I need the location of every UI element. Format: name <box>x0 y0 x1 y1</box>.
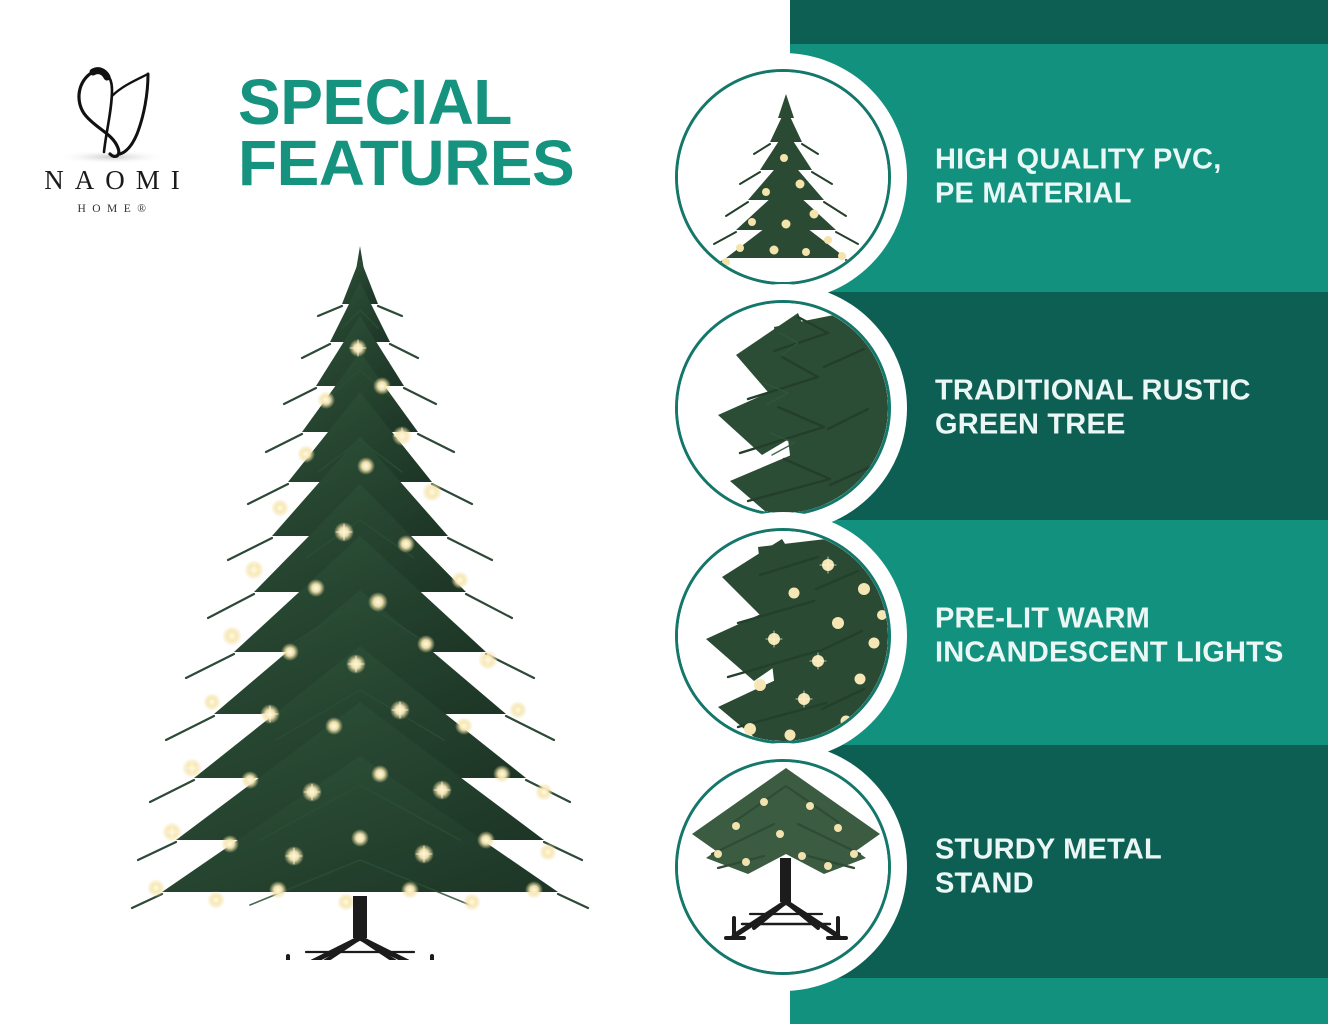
lit-branches-thumbnail-image <box>678 531 888 741</box>
feature-label-line2: PE MATERIAL <box>935 177 1315 211</box>
feature-row-material: HIGH QUALITY PVC, PE MATERIAL <box>0 62 1328 292</box>
metal-stand-thumbnail-image <box>678 762 888 972</box>
feature-label-line1: STURDY METAL <box>935 833 1315 867</box>
feature-label-line1: HIGH QUALITY PVC, <box>935 143 1315 177</box>
feature-label-line1: TRADITIONAL RUSTIC <box>935 374 1315 408</box>
thumbnail-ring <box>675 759 891 975</box>
panel-band-top <box>790 0 1328 44</box>
panel-band-bottom <box>790 978 1328 1024</box>
feature-row-green-tree: TRADITIONAL RUSTIC GREEN TREE <box>0 293 1328 523</box>
feature-label-pre-lit: PRE-LIT WARM INCANDESCENT LIGHTS <box>935 602 1315 669</box>
feature-label-green-tree: TRADITIONAL RUSTIC GREEN TREE <box>935 374 1315 441</box>
thumbnail-ring <box>675 69 891 285</box>
feature-row-stand: STURDY METAL STAND <box>0 752 1328 982</box>
thumbnail-ring <box>675 528 891 744</box>
feature-thumbnail-material[interactable] <box>668 62 898 292</box>
infographic-canvas: NAOMI HOME® SPECIAL FEATURES <box>0 0 1328 1024</box>
full-tree-thumbnail-image <box>678 72 888 282</box>
feature-label-line2: INCANDESCENT LIGHTS <box>935 636 1315 670</box>
feature-label-material: HIGH QUALITY PVC, PE MATERIAL <box>935 143 1315 210</box>
feature-row-pre-lit: PRE-LIT WARM INCANDESCENT LIGHTS <box>0 521 1328 751</box>
thumbnail-ring <box>675 300 891 516</box>
feature-label-line1: PRE-LIT WARM <box>935 602 1315 636</box>
feature-label-line2: STAND <box>935 867 1315 901</box>
feature-label-line2: GREEN TREE <box>935 408 1315 442</box>
feature-thumbnail-stand[interactable] <box>668 752 898 982</box>
branch-closeup-thumbnail-image <box>678 303 888 513</box>
feature-label-stand: STURDY METAL STAND <box>935 833 1315 900</box>
feature-thumbnail-pre-lit[interactable] <box>668 521 898 751</box>
feature-thumbnail-green-tree[interactable] <box>668 293 898 523</box>
